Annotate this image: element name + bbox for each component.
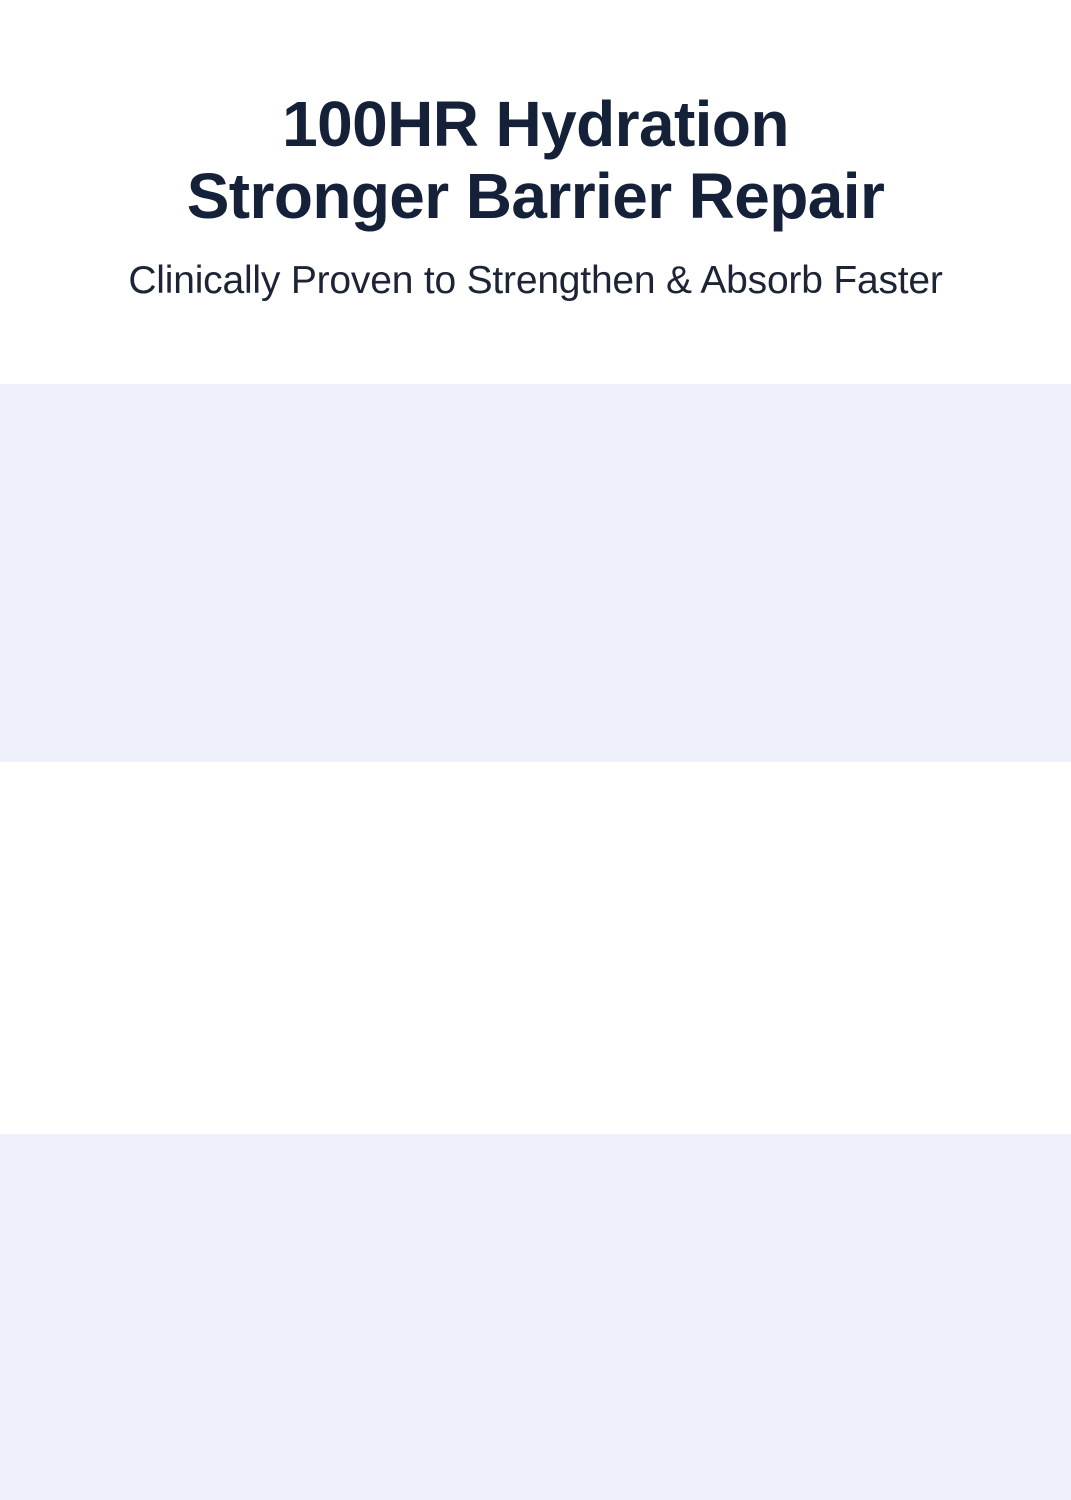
feature-section-mle-skin-barrier: MLE Skin Barrier Technology Penetrates 2… [0,384,1071,762]
feature-section-100-hour-hydration: 100-Hour Hydration Delivers immediate an… [0,1134,1071,1500]
infographic-page: 100HR Hydration Stronger Barrier Repair … [0,0,1071,1500]
page-subtitle: Clinically Proven to Strengthen & Absorb… [128,259,942,303]
page-title-line-2: Stronger Barrier Repair [31,160,1041,232]
page-title: 100HR Hydration Stronger Barrier Repair [31,88,1041,233]
hero-header: 100HR Hydration Stronger Barrier Repair … [0,0,1071,384]
feature-section-triple-ceramide: Triple Ceramide Complex + Cholesterol + … [0,762,1071,1134]
page-title-line-1: 100HR Hydration [31,88,1041,160]
